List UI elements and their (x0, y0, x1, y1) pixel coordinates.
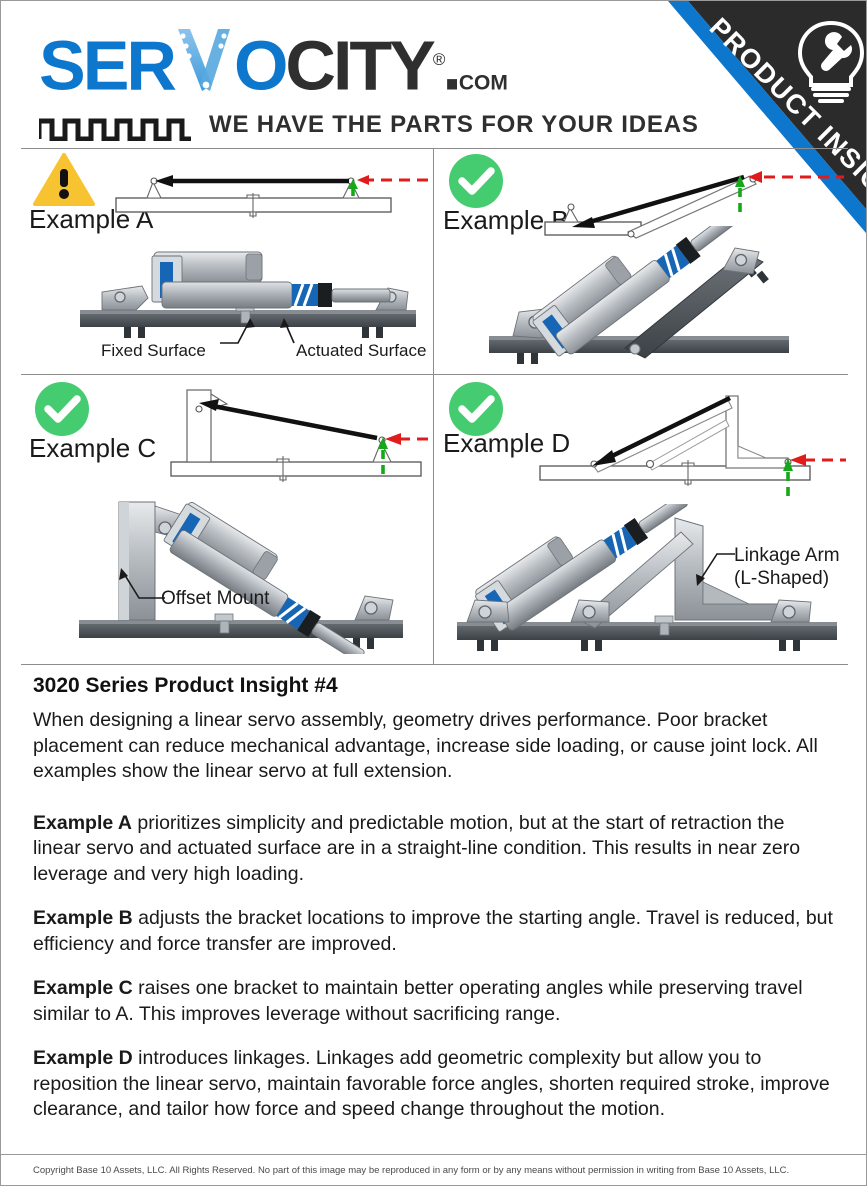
check-circle-icon (33, 380, 91, 438)
example-b-assembly-render (485, 226, 845, 368)
check-circle-icon (447, 152, 505, 210)
article-body: 3020 Series Product Insight #4 When desi… (33, 674, 833, 1142)
paragraph-a-text: prioritizes simplicity and predictable m… (33, 812, 800, 885)
page-footer: Copyright Base 10 Assets, LLC. All Right… (1, 1154, 867, 1185)
example-d-schematic (530, 384, 848, 506)
warning-triangle-icon (33, 152, 95, 208)
paragraph-d-lead: Example D (33, 1047, 133, 1069)
examples-grid: Example A (21, 148, 848, 665)
article-intro: When designing a linear servo assembly, … (33, 708, 833, 785)
logo-dot: . (442, 26, 458, 104)
paragraph-b-text: adjusts the bracket locations to improve… (33, 907, 833, 955)
registered-mark: ® (433, 50, 443, 69)
copyright-notice: Copyright Base 10 Assets, LLC. All Right… (1, 1165, 789, 1176)
paragraph-b-lead: Example B (33, 907, 133, 929)
page-header: SER (1, 1, 867, 146)
paragraph-a-lead: Example A (33, 812, 132, 834)
example-a-schematic (111, 162, 431, 222)
example-d-callout-leader (685, 548, 737, 590)
example-c-callout-offset-mount: Offset Mount (161, 588, 269, 610)
example-cell-c: Example C (21, 376, 431, 665)
square-wave-icon (39, 115, 191, 141)
tagline-text: WE HAVE THE PARTS FOR YOUR IDEAS (209, 111, 699, 141)
paragraph-example-d: Example D introduces linkages. Linkages … (33, 1046, 833, 1123)
example-a-callout-fixed-surface: Fixed Surface (101, 341, 206, 361)
logo-v-linkage-icon (174, 25, 234, 95)
example-cell-d: Example D (435, 376, 848, 665)
article-title: 3020 Series Product Insight #4 (33, 674, 833, 698)
logo-com-text: COM (459, 71, 508, 94)
example-a-callout-leaders (216, 316, 326, 346)
logo-servo-text: SER (39, 26, 174, 104)
example-c-schematic (151, 382, 431, 492)
paragraph-example-c: Example C raises one bracket to maintain… (33, 976, 833, 1027)
servocity-logo: SER (39, 25, 508, 118)
logo-o-text: O (234, 26, 285, 104)
paragraph-example-b: Example B adjusts the bracket locations … (33, 906, 833, 957)
example-c-label: Example C (29, 433, 156, 464)
tagline-row: WE HAVE THE PARTS FOR YOUR IDEAS (39, 111, 699, 141)
paragraph-d-text: introduces linkages. Linkages add geomet… (33, 1047, 830, 1120)
example-d-callout-linkage-arm: Linkage Arm (734, 545, 840, 567)
example-cell-b: Example B (435, 148, 848, 372)
example-c-callout-leader (109, 566, 169, 604)
paragraph-c-text: raises one bracket to maintain better op… (33, 977, 803, 1025)
example-d-callout-linkage-shape: (L-Shaped) (734, 568, 829, 590)
logo-city-text: CITY (285, 26, 432, 104)
paragraph-example-a: Example A prioritizes simplicity and pre… (33, 811, 833, 888)
paragraph-c-lead: Example C (33, 977, 133, 999)
grid-line-middle (21, 374, 848, 375)
product-insight-page: SER (0, 0, 867, 1186)
grid-line-vertical (433, 148, 434, 665)
example-cell-a: Example A (21, 148, 431, 372)
